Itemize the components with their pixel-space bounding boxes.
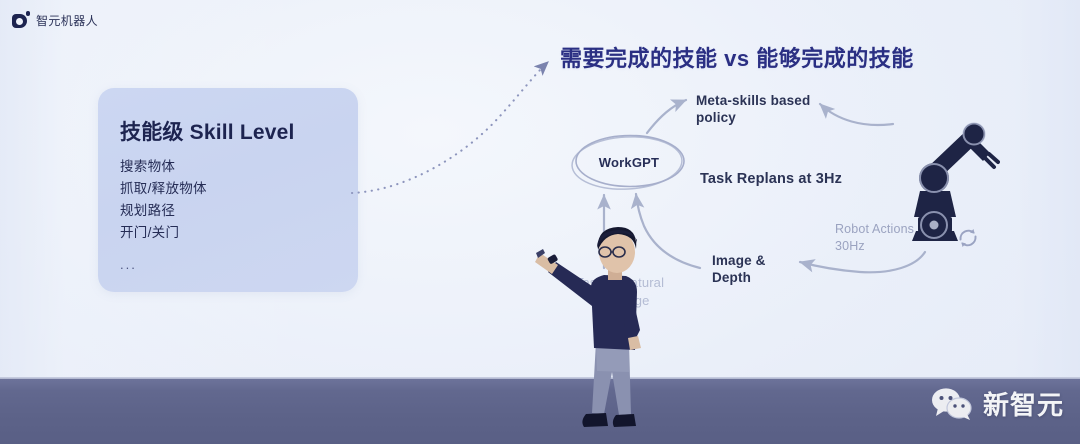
robot-arm-icon xyxy=(890,105,1000,245)
label-robot-actions-line2: 30Hz xyxy=(835,239,865,253)
agibot-logo-icon xyxy=(12,11,30,29)
dotted-connector-arrow xyxy=(352,62,548,193)
arrow-meta-to-robot xyxy=(820,104,893,125)
list-item-ellipsis: ... xyxy=(120,244,207,276)
list-item: 抓取/释放物体 xyxy=(120,178,207,200)
label-image-depth-line1: Image & xyxy=(712,253,766,268)
list-item: 搜索物体 xyxy=(120,156,207,178)
arrow-robot-to-image xyxy=(800,252,925,272)
label-meta-skills-policy: Meta-skills based policy xyxy=(696,92,810,126)
list-item: 开门/关门 xyxy=(120,222,207,244)
skill-card-list: 搜索物体 抓取/释放物体 规划路径 开门/关门 ... xyxy=(120,156,207,276)
label-image-depth: Image & Depth xyxy=(712,252,766,286)
list-item: 规划路径 xyxy=(120,200,207,222)
page-title: 需要完成的技能 vs 能够完成的技能 xyxy=(560,41,914,73)
label-meta-skills-line1: Meta-skills based xyxy=(696,93,810,108)
label-meta-skills-line2: policy xyxy=(696,110,736,125)
arrow-to-meta-skills xyxy=(647,100,686,133)
stage-background: 智元机器人 需要完成的技能 vs 能够完成的技能 技能级 Skill Level… xyxy=(0,0,1080,444)
brand-name: 智元机器人 xyxy=(36,12,98,29)
watermark-text: 新智元 xyxy=(983,385,1064,422)
presenter-figure xyxy=(534,222,656,444)
label-image-depth-line2: Depth xyxy=(712,270,751,285)
brand-logo: 智元机器人 xyxy=(12,11,98,29)
skill-level-card: 技能级 Skill Level 搜索物体 抓取/释放物体 规划路径 开门/关门 … xyxy=(98,88,358,292)
workgpt-node-label: WorkGPT xyxy=(580,154,678,171)
label-task-replans: Task Replans at 3Hz xyxy=(700,171,842,188)
skill-card-title: 技能级 Skill Level xyxy=(120,116,295,146)
wechat-icon xyxy=(930,387,974,421)
refresh-loop-icon xyxy=(955,225,981,251)
watermark: 新智元 xyxy=(930,385,1064,422)
